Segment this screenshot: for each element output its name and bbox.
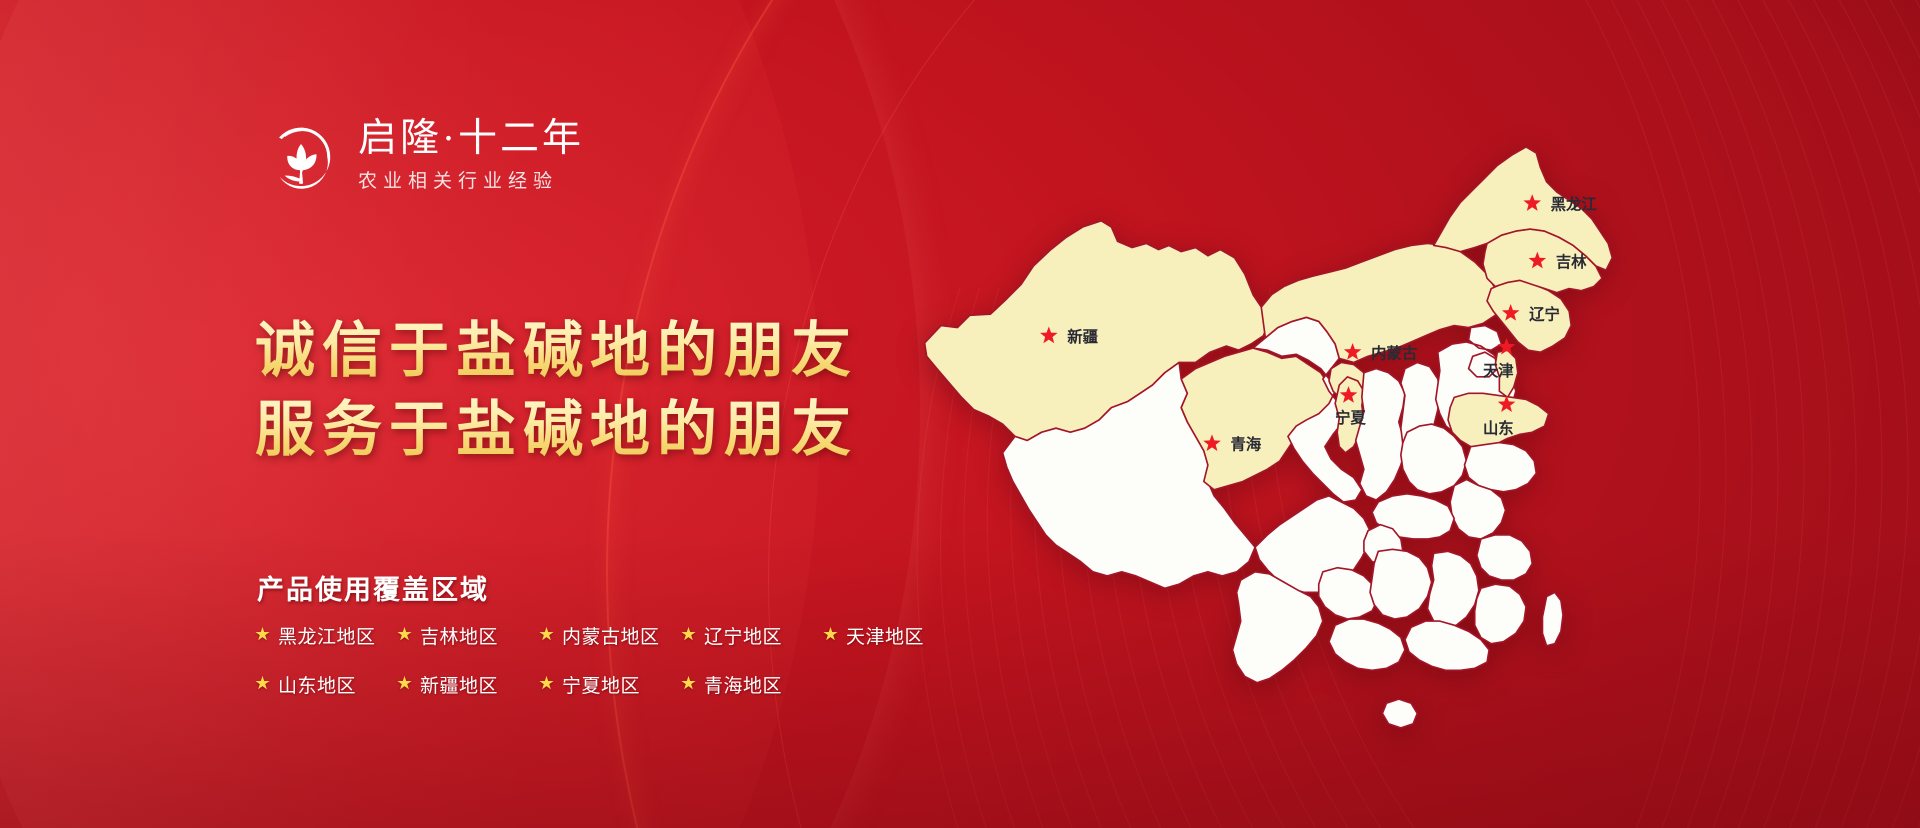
coverage-region-item: ★内蒙古地区: [539, 622, 681, 649]
map-province-label: 黑龙江: [1551, 195, 1598, 214]
star-icon: ★: [255, 628, 270, 643]
coverage-region-item: ★青海地区: [681, 671, 823, 698]
province-taiwan: [1542, 592, 1563, 645]
map-province-label: 辽宁: [1529, 304, 1560, 323]
star-icon: ★: [397, 677, 412, 692]
star-icon: ★: [539, 628, 554, 643]
province-hunan: [1370, 549, 1432, 619]
coverage-region-list: ★黑龙江地区★吉林地区★内蒙古地区★辽宁地区★天津地区★山东地区★新疆地区★宁夏…: [255, 622, 965, 698]
map-province-shapes: [925, 147, 1613, 728]
coverage-region-item: ★新疆地区: [397, 671, 539, 698]
map-province-label: 吉林: [1556, 252, 1587, 271]
province-shaanxi: [1356, 369, 1405, 500]
map-province-label: 内蒙古: [1371, 343, 1417, 362]
coverage-region-label: 吉林地区: [420, 622, 498, 649]
coverage-region-item: ★山东地区: [255, 671, 397, 698]
star-icon: ★: [681, 628, 696, 643]
coverage-region-label: 宁夏地区: [562, 671, 640, 698]
map-province-label: 宁夏: [1335, 408, 1366, 427]
lotus-leaf-circle-logo-icon: [258, 113, 344, 199]
coverage-region-label: 辽宁地区: [704, 622, 782, 649]
coverage-region-label: 黑龙江地区: [278, 622, 376, 649]
map-province-label: 天津: [1483, 362, 1514, 380]
china-map-svg: 黑龙江吉林辽宁内蒙古新疆青海宁夏天津山东: [900, 92, 1680, 752]
star-icon: ★: [539, 677, 554, 692]
china-coverage-map: 黑龙江吉林辽宁内蒙古新疆青海宁夏天津山东: [900, 92, 1680, 752]
coverage-region-item: ★辽宁地区: [681, 622, 823, 649]
coverage-region-item: ★宁夏地区: [539, 671, 681, 698]
map-province-label: 青海: [1230, 435, 1261, 454]
promo-banner: 启隆·十二年 农业相关行业经验 诚信于盐碱地的朋友 服务于盐碱地的朋友 产品使用…: [0, 0, 1920, 828]
brand-text: 启隆·十二年 农业相关行业经验: [358, 119, 584, 194]
headline-block: 诚信于盐碱地的朋友 服务于盐碱地的朋友: [255, 312, 858, 470]
coverage-region-label: 新疆地区: [420, 671, 498, 698]
coverage-region-label: 山东地区: [278, 671, 356, 698]
star-icon: ★: [681, 677, 696, 692]
province-jiangxi: [1428, 551, 1479, 627]
province-guizhou: [1319, 568, 1379, 619]
coverage-region-item: ★吉林地区: [397, 622, 539, 649]
province-guangxi: [1329, 619, 1405, 670]
headline-line-1: 诚信于盐碱地的朋友: [255, 312, 858, 391]
brand-tagline: 农业相关行业经验: [358, 166, 584, 193]
map-province-label: 山东: [1483, 418, 1514, 437]
brand-lockup: 启隆·十二年 农业相关行业经验: [258, 113, 584, 199]
coverage-region-label: 内蒙古地区: [562, 622, 660, 649]
brand-name: 启隆·十二年: [358, 119, 584, 160]
star-icon: ★: [255, 677, 270, 692]
province-fujian: [1475, 584, 1526, 644]
coverage-region-item: ★黑龙江地区: [255, 622, 397, 649]
star-icon: ★: [397, 628, 412, 643]
province-zhejiang: [1477, 535, 1532, 580]
coverage-region-label: 青海地区: [704, 671, 782, 698]
map-province-label: 新疆: [1067, 327, 1098, 346]
province-hainan: [1382, 699, 1417, 728]
left-content-panel: 启隆·十二年 农业相关行业经验 诚信于盐碱地的朋友 服务于盐碱地的朋友 产品使用…: [0, 0, 900, 828]
headline-line-2: 服务于盐碱地的朋友: [255, 391, 858, 470]
star-icon: ★: [823, 628, 838, 643]
coverage-section-title: 产品使用覆盖区域: [257, 568, 489, 607]
